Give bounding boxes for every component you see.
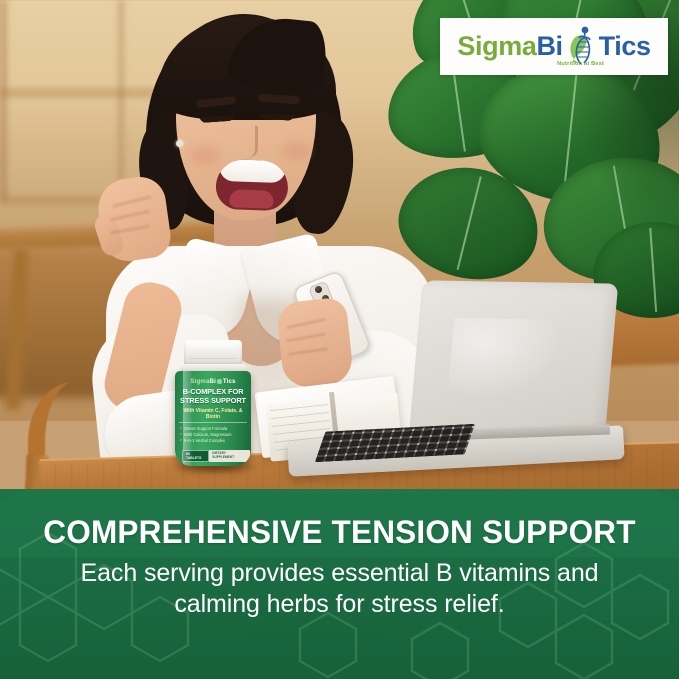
bottle-logo-word2: Bi	[210, 378, 216, 385]
smiling-mouth	[215, 159, 289, 211]
list-item: 5-in-1 Herbal Complex	[184, 438, 247, 444]
earring	[176, 140, 183, 147]
bottle-logo-word3: Tics	[223, 378, 236, 385]
cheek	[190, 146, 220, 164]
cheek	[282, 142, 312, 160]
dna-leaf-icon: Nutrition at Best	[564, 24, 598, 70]
banner-subtext: Each serving provides essential B vitami…	[0, 558, 679, 619]
dna-leaf-icon	[216, 376, 223, 384]
brand-logo: Sigma Bi Nutrition at Best Tics	[440, 18, 668, 75]
bottle-logo-word1: Sigma	[190, 378, 209, 385]
banner-subline-1: Each serving provides essential B vitami…	[0, 558, 679, 589]
right-hand	[276, 297, 355, 390]
promo-banner: COMPREHENSIVE TENSION SUPPORT Each servi…	[0, 489, 679, 679]
brand-word-bi: Bi	[536, 33, 562, 60]
brand-logo-text: Sigma Bi Nutrition at Best Tics	[457, 24, 650, 70]
banner-content: COMPREHENSIVE TENSION SUPPORT Each servi…	[0, 489, 679, 619]
brand-word-sigma: Sigma	[457, 33, 536, 60]
banner-subline-2: calming herbs for stress relief.	[0, 589, 679, 620]
nose	[238, 126, 258, 158]
bottle-body: SigmaBiTics B-COMPLEX FOR STRESS SUPPORT…	[175, 371, 251, 466]
bottle-cap	[184, 340, 242, 366]
banner-headline: COMPREHENSIVE TENSION SUPPORT	[10, 515, 669, 549]
brand-tagline: Nutrition at Best	[557, 62, 604, 68]
tongue	[229, 189, 274, 209]
brand-word-tics: Tics	[599, 33, 651, 60]
supplement-bottle: SigmaBiTics B-COMPLEX FOR STRESS SUPPORT…	[172, 340, 254, 468]
dietary-supplement-badge: DIETARY SUPPLEMENT	[209, 450, 250, 462]
bottle-highlight	[183, 371, 193, 466]
camera-lens	[315, 286, 322, 293]
promo-image: SigmaBiTics B-COMPLEX FOR STRESS SUPPORT…	[0, 0, 679, 679]
teeth	[219, 159, 286, 183]
